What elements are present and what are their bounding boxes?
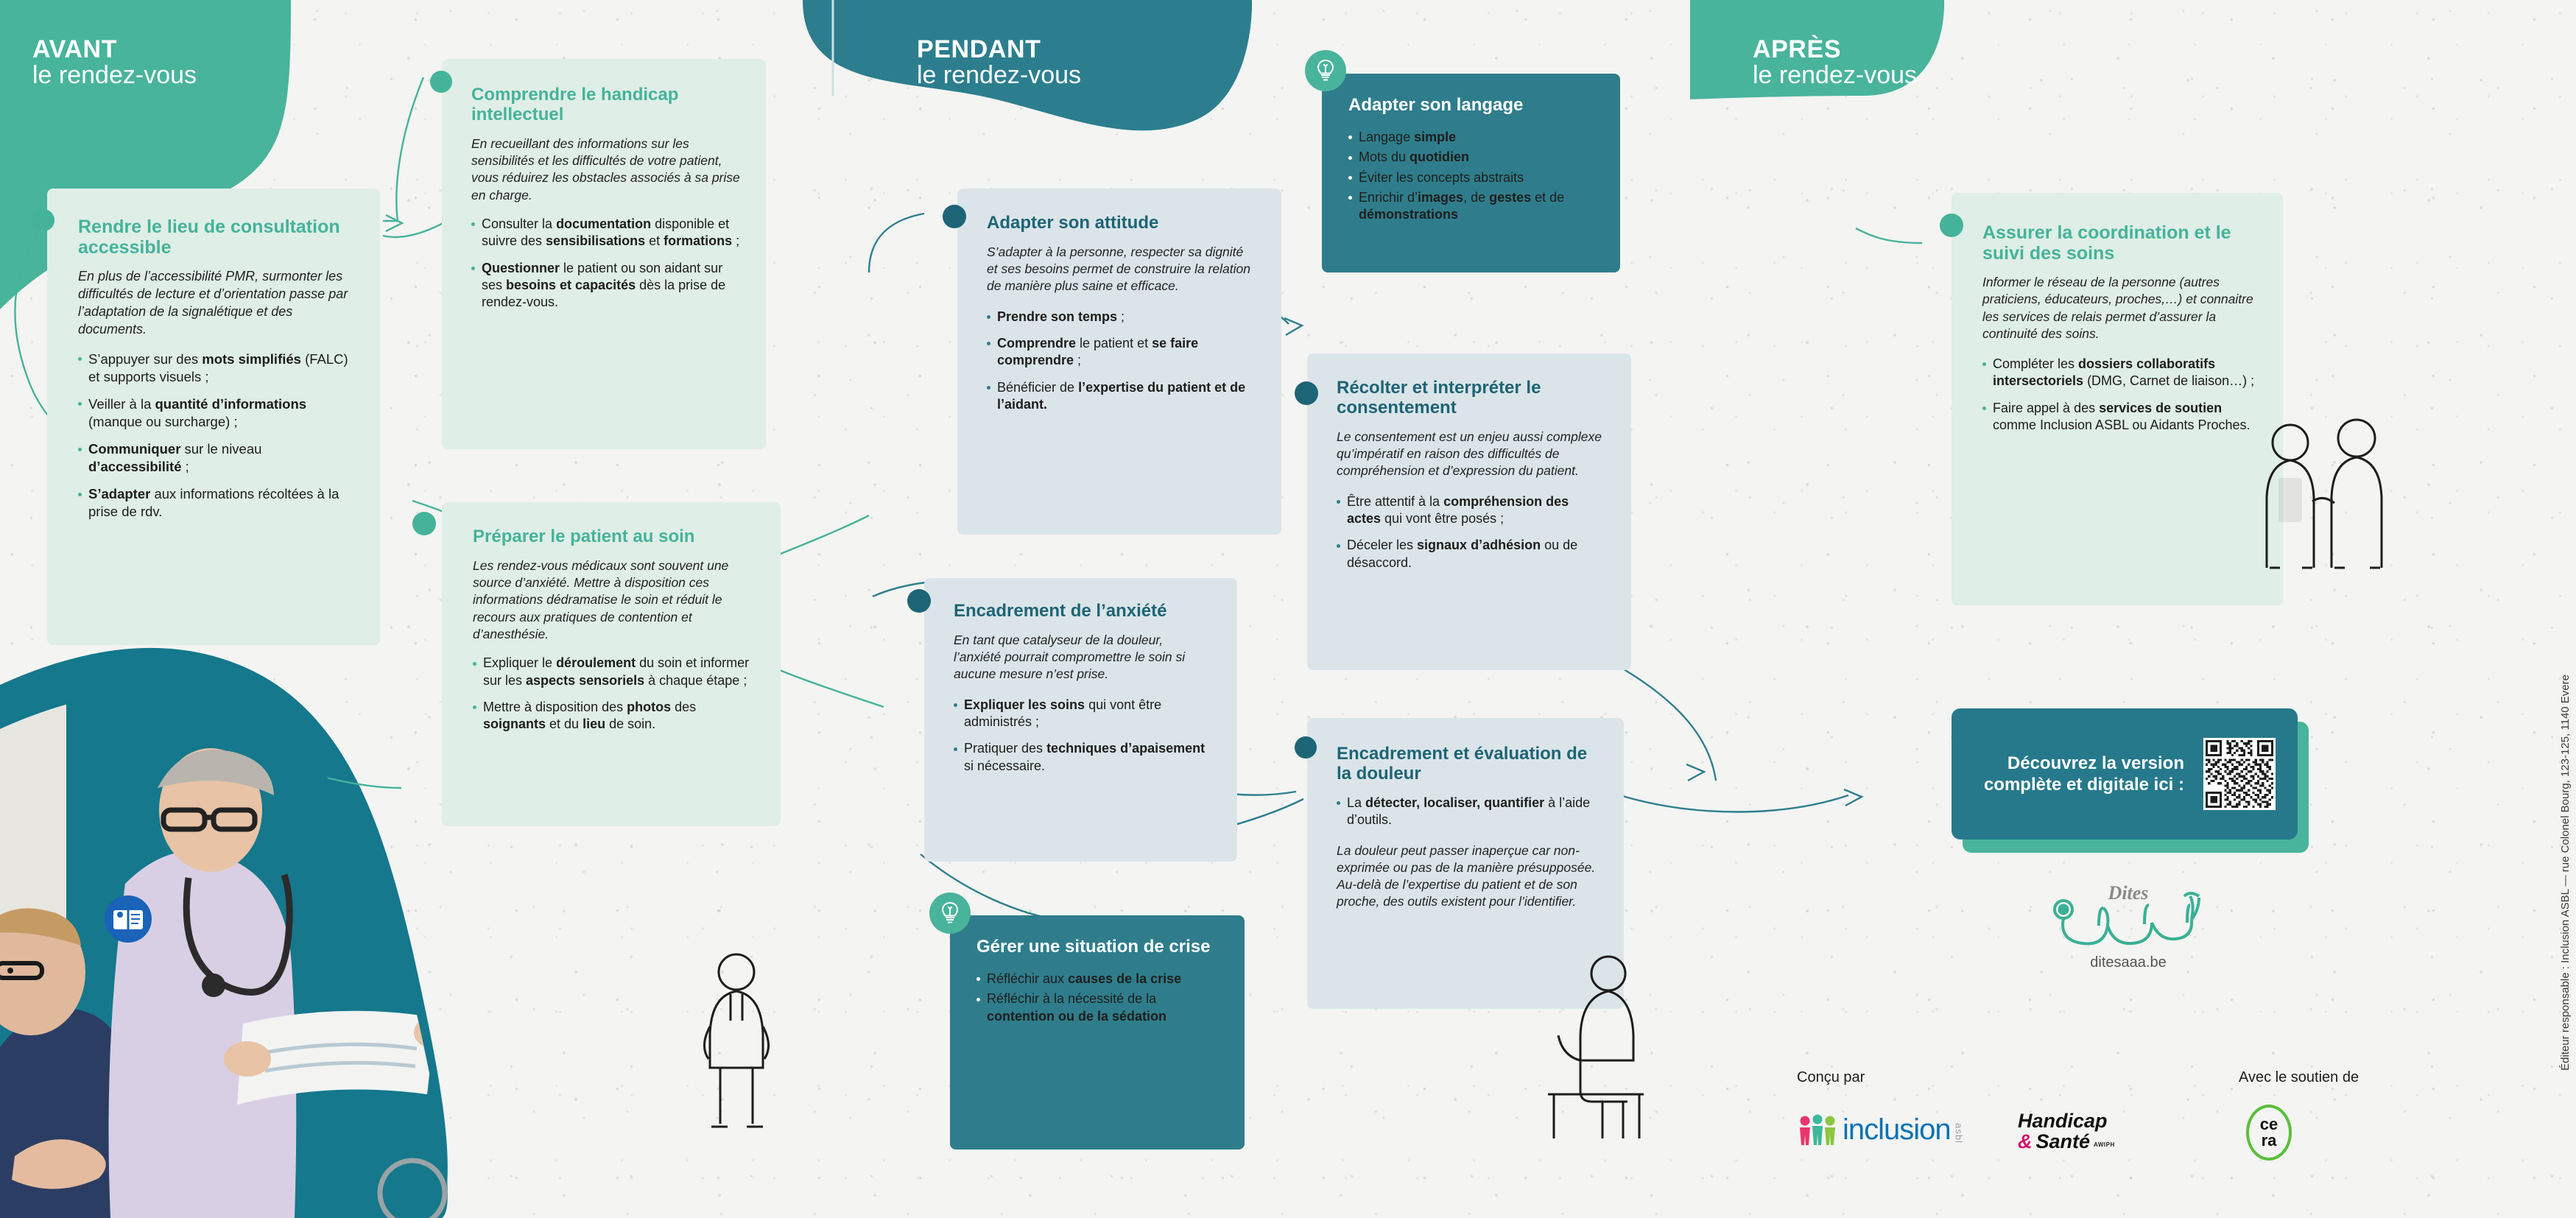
handicap-sante-logo: Handicap & Santé AWIPH (2018, 1110, 2115, 1152)
inclusion-logo: inclusion asbl (1797, 1113, 1965, 1147)
section-title-apres: APRÈS (1753, 37, 1917, 63)
connector-dot-douleur (1295, 736, 1317, 758)
card-bullet-list: Prendre son temps ;Comprendre le patient… (987, 309, 1256, 414)
card-intro: Le consentement est un enjeu aussi compl… (1337, 429, 1606, 480)
connector-dot-handicap (430, 71, 452, 93)
card-outro: La douleur peut passer inaperçue car non… (1337, 842, 1599, 911)
card-intro: S’adapter à la personne, respecter sa di… (987, 244, 1256, 295)
handshake-illustration (2253, 416, 2401, 578)
card-encadrement-anxiete: Encadrement de l’anxiété En tant que cat… (924, 578, 1237, 862)
list-item: Bénéficier de l’expertise du patient et … (987, 379, 1256, 414)
arrowhead-coordination (1844, 789, 1862, 806)
card-intro: Informer le réseau de la personne (autre… (1982, 274, 2256, 342)
section-header-apres: APRÈS le rendez-vous (1753, 37, 1917, 88)
handicap-ampersand: & (2018, 1131, 2033, 1152)
card-comprendre-handicap: Comprendre le handicap intellectuel En r… (442, 59, 766, 449)
qr-code-icon[interactable] (2203, 738, 2276, 810)
connector-dot-consentement (1295, 381, 1318, 405)
inclusion-asbl-suffix: asbl (1954, 1123, 1965, 1147)
list-item: Mots du quotidien (1348, 149, 1598, 166)
card-title: Récolter et interpréter le consentement (1337, 379, 1606, 418)
list-item: Pratiquer des techniques d’apaisement si… (954, 740, 1214, 775)
handicap-sub-label: AWIPH (2094, 1142, 2115, 1152)
list-item: Éviter les concepts abstraits (1348, 169, 1598, 186)
publisher-note: Éditeur responsable : Inclusion ASBL — r… (2559, 675, 2572, 1071)
list-item: Déceler les signaux d’adhésion ou de dés… (1337, 537, 1606, 571)
list-item: Communiquer sur le niveau d’accessibilit… (78, 440, 353, 476)
cera-line-1: ce (2260, 1116, 2278, 1133)
inclusion-people-icon (1797, 1114, 1840, 1147)
card-intro: En plus de l’accessibilité PMR, surmonte… (78, 268, 353, 339)
card-assurer-coordination: Assurer la coordination et le suivi des … (1952, 193, 2283, 605)
card-title: Rendre le lieu de consultation accessibl… (78, 217, 353, 258)
list-item: S’adapter aux informations récoltées à l… (78, 485, 353, 521)
connector-dot-lieu (32, 209, 54, 231)
card-title: Gérer une situation de crise (976, 937, 1222, 957)
card-title: Encadrement et évaluation de la douleur (1337, 744, 1599, 784)
card-recolter-consentement: Récolter et interpréter le consentement … (1307, 353, 1631, 670)
consultation-photo (0, 685, 457, 1218)
section-title-avant: AVANT (32, 37, 197, 63)
stethoscope-aaa-icon: Dites (2040, 880, 2217, 948)
list-item: Mettre à disposition des photos des soig… (473, 699, 756, 733)
card-bullet-list: Compléter les dossiers collaboratifs int… (1982, 356, 2256, 434)
card-intro: En tant que catalyseur de la douleur, l’… (954, 632, 1214, 683)
connector-dot-attitude (943, 205, 966, 228)
card-bullet-list: Réfléchir aux causes de la criseRéfléchi… (976, 971, 1222, 1025)
card-title: Adapter son langage (1348, 96, 1598, 116)
section-subtitle-avant: le rendez-vous (32, 63, 197, 88)
lightbulb-icon (929, 893, 971, 934)
inclusion-wordmark: inclusion (1843, 1113, 1951, 1147)
svg-text:Dites: Dites (2108, 882, 2149, 904)
section-header-avant: AVANT le rendez-vous (32, 37, 197, 88)
qr-callout-card[interactable]: Découvrez la version complète et digital… (1952, 708, 2298, 839)
handicap-line-2: Santé (2036, 1131, 2091, 1152)
list-item: Veiller à la quantité d’informations (ma… (78, 395, 353, 431)
list-item: Consulter la documentation disponible et… (471, 216, 741, 250)
card-title: Préparer le patient au soin (473, 527, 756, 547)
list-item: Réfléchir aux causes de la crise (976, 971, 1222, 988)
qr-callout-text: Découvrez la version complète et digital… (1974, 753, 2184, 796)
supported-by-label: Avec le soutien de (2239, 1069, 2359, 1086)
cera-logo: ce ra (2246, 1105, 2292, 1161)
ditesaaa-url[interactable]: ditesaaa.be (2040, 954, 2217, 971)
card-bullet-list: Langage simpleMots du quotidienÉviter le… (1348, 129, 1598, 224)
card-bullet-list: Être attentif à la compréhension des act… (1337, 493, 1606, 572)
card-intro: Les rendez-vous médicaux sont souvent un… (473, 557, 756, 643)
connector-line-coordination (1856, 228, 1922, 243)
cera-line-2: ra (2262, 1133, 2277, 1149)
lightbulb-icon (1305, 50, 1346, 91)
list-item: Langage simple (1348, 129, 1598, 146)
list-item: Expliquer le déroulement du soin et info… (473, 655, 756, 689)
list-item: Prendre son temps ; (987, 309, 1256, 325)
card-bullet-list: La détecter, localiser, quantifier à l’a… (1337, 795, 1599, 829)
list-item: Comprendre le patient et se faire compre… (987, 335, 1256, 370)
connector-line-apres (1620, 795, 1848, 812)
card-bullet-list: Expliquer le déroulement du soin et info… (473, 655, 756, 733)
card-bullet-list: S’appuyer sur des mots simplifiés (FALC)… (78, 351, 353, 521)
arrowhead-consentement (1284, 318, 1302, 335)
card-bullet-list: Expliquer les soins qui vont être admini… (954, 697, 1214, 775)
card-intro: En recueillant des informations sur les … (471, 135, 741, 204)
seated-person-illustration (1532, 950, 1664, 1141)
card-title: Adapter son attitude (987, 214, 1256, 233)
card-title: Comprendre le handicap intellectuel (471, 85, 741, 125)
ditesaaa-logo: Dites ditesaaa.be (2040, 880, 2217, 971)
falc-badge-icon (105, 895, 152, 943)
nurse-illustration (685, 950, 803, 1134)
card-gerer-crise: Gérer une situation de crise Réfléchir a… (950, 915, 1245, 1150)
handicap-line-1: Handicap (2018, 1110, 2115, 1131)
list-item: Faire appel à des services de soutien co… (1982, 400, 2256, 434)
arrowhead-lieu (386, 215, 402, 231)
list-item: Être attentif à la compréhension des act… (1337, 493, 1606, 528)
list-item: Expliquer les soins qui vont être admini… (954, 697, 1214, 731)
card-rendre-lieu-accessible: Rendre le lieu de consultation accessibl… (47, 189, 380, 645)
list-item: S’appuyer sur des mots simplifiés (FALC)… (78, 351, 353, 386)
designed-by-label: Conçu par (1797, 1069, 1865, 1086)
section-subtitle-apres: le rendez-vous (1753, 63, 1917, 88)
card-preparer-patient: Préparer le patient au soin Les rendez-v… (442, 502, 781, 826)
connector-dot-anxiete (907, 589, 931, 613)
section-subtitle-pendant: le rendez-vous (917, 63, 1081, 88)
list-item: La détecter, localiser, quantifier à l’a… (1337, 795, 1599, 829)
card-bullet-list: Consulter la documentation disponible et… (471, 216, 741, 311)
connector-dot-preparer (412, 512, 436, 535)
list-item: Compléter les dossiers collaboratifs int… (1982, 356, 2256, 390)
section-title-pendant: PENDANT (917, 37, 1081, 63)
arrowhead-apres (1686, 764, 1704, 781)
card-adapter-attitude: Adapter son attitude S’adapter à la pers… (957, 189, 1281, 535)
card-title: Assurer la coordination et le suivi des … (1982, 222, 2256, 264)
card-adapter-langage: Adapter son langage Langage simpleMots d… (1322, 74, 1620, 272)
list-item: Enrichir d’images, de gestes et de démon… (1348, 189, 1598, 224)
list-item: Questionner le patient ou son aidant sur… (471, 260, 741, 311)
list-item: Réfléchir à la nécessité de la contentio… (976, 990, 1222, 1025)
card-title: Encadrement de l’anxiété (954, 602, 1214, 622)
section-header-pendant: PENDANT le rendez-vous (917, 37, 1081, 88)
connector-dot-coordination (1940, 214, 1963, 237)
